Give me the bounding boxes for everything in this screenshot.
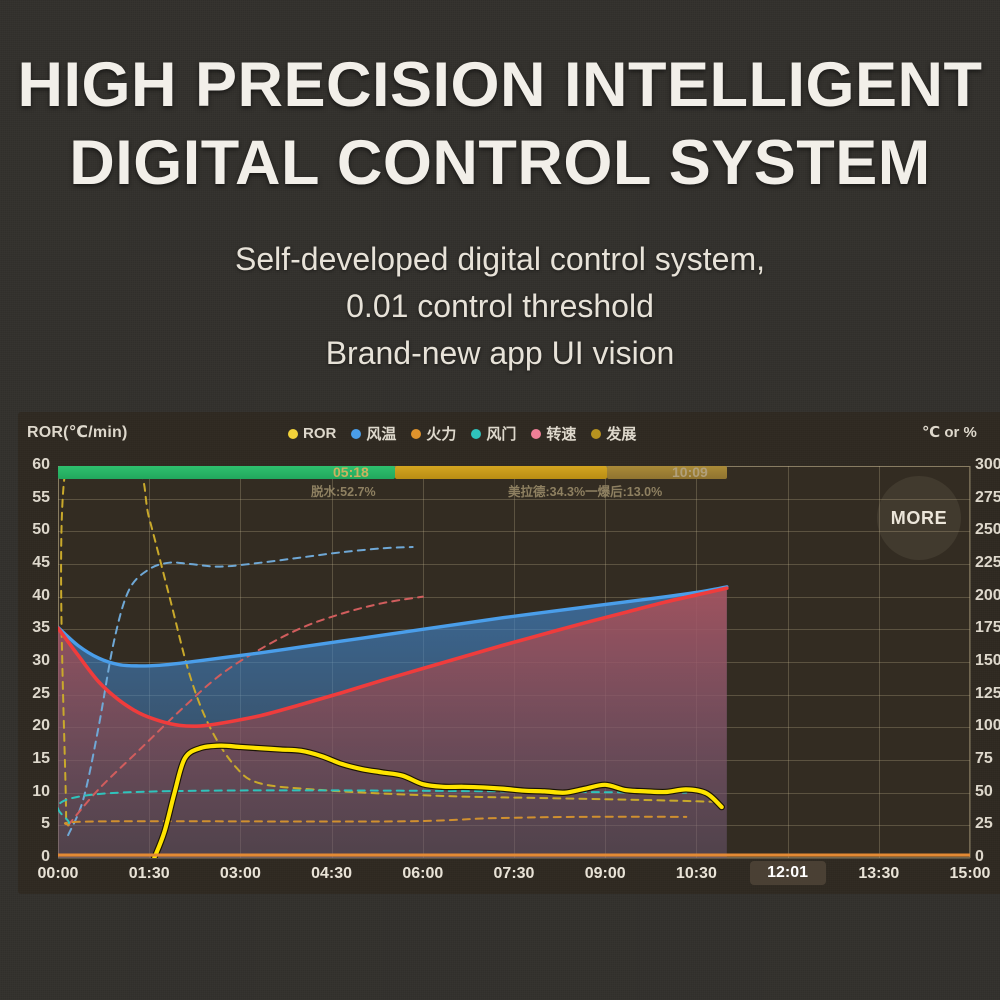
y-tick-left: 60	[2, 456, 50, 474]
y-tick-right: 300	[975, 456, 1000, 474]
legend-label-5: 发展	[606, 423, 636, 444]
legend-item-3[interactable]: 风门	[471, 423, 516, 444]
page-subtitle-line-3: Brand-new app UI vision	[0, 330, 1000, 377]
phase-bar-maillard[interactable]	[395, 466, 607, 479]
y-tick-left: 55	[2, 489, 50, 507]
y-tick-left: 5	[2, 815, 50, 833]
y-tick-right: 250	[975, 521, 1000, 539]
phase-time-2: 10:09	[672, 466, 708, 479]
legend-label-1: 风温	[366, 423, 396, 444]
legend-label-4: 转速	[546, 423, 576, 444]
phase-time-1: 05:18	[333, 466, 369, 479]
legend-label-0: ROR	[303, 425, 336, 442]
phase-caption-maillard: 美拉德:34.3%一爆后:13.0%	[508, 481, 662, 500]
page-subtitle: Self-developed digital control system, 0…	[0, 236, 1000, 377]
y-tick-left: 30	[2, 652, 50, 670]
x-tick[interactable]: 10:30	[658, 865, 734, 883]
phase-bar-development[interactable]	[607, 466, 727, 479]
chart-header: ROR(℃/min) ROR风温火力风门转速发展 ℃ or %	[18, 412, 1000, 452]
y-tick-right: 0	[975, 848, 1000, 866]
y-tick-right: 125	[975, 685, 1000, 703]
page-title-line-2: DIGITAL CONTROL SYSTEM	[0, 124, 1000, 202]
legend-item-5[interactable]: 发展	[591, 423, 636, 444]
x-tick[interactable]: 03:00	[202, 865, 278, 883]
more-button-label: MORE	[891, 508, 947, 529]
y-tick-right: 275	[975, 489, 1000, 507]
page-title: HIGH PRECISION INTELLIGENT DIGITAL CONTR…	[0, 46, 1000, 202]
y-tick-left: 15	[2, 750, 50, 768]
x-tick-current[interactable]: 12:01	[750, 861, 826, 885]
y-tick-left: 25	[2, 685, 50, 703]
legend-dot-development	[591, 429, 601, 439]
y-tick-right: 50	[975, 783, 1000, 801]
legend-dot-damper	[471, 429, 481, 439]
page-title-line-1: HIGH PRECISION INTELLIGENT	[17, 50, 982, 120]
legend-dot-ror	[288, 429, 298, 439]
x-tick[interactable]: 06:00	[385, 865, 461, 883]
x-tick[interactable]: 13:30	[841, 865, 917, 883]
legend-item-0[interactable]: ROR	[288, 425, 336, 442]
legend-item-4[interactable]: 转速	[531, 423, 576, 444]
left-axis-title: ROR(℃/min)	[27, 422, 127, 442]
x-tick[interactable]: 09:00	[567, 865, 643, 883]
y-tick-right: 225	[975, 554, 1000, 572]
y-tick-left: 45	[2, 554, 50, 572]
x-tick[interactable]: 00:00	[20, 865, 96, 883]
legend-dot-air-temp	[351, 429, 361, 439]
x-tick[interactable]: 15:00	[932, 865, 1000, 883]
chart-curves	[58, 466, 970, 858]
y-tick-right: 25	[975, 815, 1000, 833]
legend-dot-drum-speed	[531, 429, 541, 439]
right-axis-title: ℃ or %	[922, 423, 977, 441]
y-tick-right: 200	[975, 587, 1000, 605]
y-tick-left: 50	[2, 521, 50, 539]
legend-dot-heat	[411, 429, 421, 439]
gridline-h	[58, 858, 970, 859]
gridline-v	[970, 466, 971, 858]
x-tick[interactable]: 07:30	[476, 865, 552, 883]
y-tick-left: 35	[2, 619, 50, 637]
y-tick-right: 175	[975, 619, 1000, 637]
more-button[interactable]: MORE	[877, 476, 961, 560]
chart-legend: ROR风温火力风门转速发展	[288, 423, 636, 444]
legend-item-1[interactable]: 风温	[351, 423, 396, 444]
y-tick-left: 40	[2, 587, 50, 605]
phase-caption-drying: 脱水:52.7%	[311, 481, 376, 500]
legend-item-2[interactable]: 火力	[411, 423, 456, 444]
page-subtitle-line-1: Self-developed digital control system,	[0, 236, 1000, 283]
y-tick-left: 10	[2, 783, 50, 801]
legend-label-3: 风门	[486, 423, 516, 444]
y-tick-right: 100	[975, 717, 1000, 735]
y-tick-right: 75	[975, 750, 1000, 768]
y-tick-right: 150	[975, 652, 1000, 670]
x-tick[interactable]: 01:30	[111, 865, 187, 883]
legend-label-2: 火力	[426, 423, 456, 444]
x-tick[interactable]: 04:30	[294, 865, 370, 883]
y-tick-left: 20	[2, 717, 50, 735]
page-subtitle-line-2: 0.01 control threshold	[0, 283, 1000, 330]
y-tick-left: 0	[2, 848, 50, 866]
